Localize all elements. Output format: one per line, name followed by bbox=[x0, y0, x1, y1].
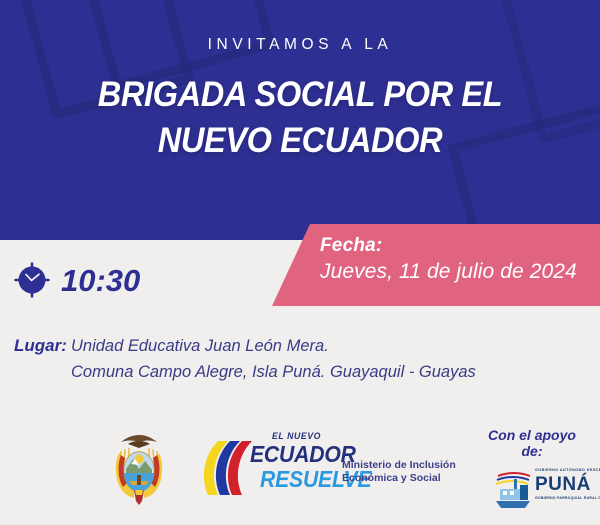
ecuador-coat-of-arms-icon bbox=[108, 429, 170, 509]
place-line-1: Lugar: Unidad Educativa Juan León Mera. bbox=[14, 333, 574, 359]
ecuador-resuelve-logo: EL NUEVO ECUADOR RESUELVE bbox=[196, 431, 346, 503]
ministry-line-2: Económica y Social bbox=[342, 472, 470, 485]
date-banner: Fecha: Jueves, 11 de julio de 2024 bbox=[272, 224, 600, 306]
poster-canvas: INVITAMOS A LA BRIGADA SOCIAL POR EL NUE… bbox=[0, 0, 600, 525]
ecuador-flag-stripes-icon bbox=[196, 437, 254, 499]
place-block: Lugar: Unidad Educativa Juan León Mera. … bbox=[14, 333, 574, 385]
page-title: BRIGADA SOCIAL POR EL NUEVO ECUADOR bbox=[21, 72, 579, 164]
ministry-line-1: Ministerio de Inclusión bbox=[342, 459, 470, 472]
title-line-2: NUEVO ECUADOR bbox=[21, 118, 579, 164]
puna-bottom-text: GOBIERNO PARROQUIAL RURAL DE PUNÁ bbox=[535, 496, 600, 500]
support-label-line-2: de: bbox=[470, 443, 594, 459]
brand-line-2: RESUELVE bbox=[260, 467, 343, 492]
time-row: 10:30 bbox=[14, 262, 140, 298]
puna-logo: GOBIERNO AUTÓNOMO DESCENTRALIZADO PUNÁ G… bbox=[494, 467, 594, 512]
place-line-2: Comuna Campo Alegre, Isla Puná. Guayaqui… bbox=[71, 359, 574, 385]
kicker-text: INVITAMOS A LA bbox=[0, 36, 600, 54]
support-label-line-1: Con el apoyo bbox=[470, 427, 594, 443]
hero-header: INVITAMOS A LA BRIGADA SOCIAL POR EL NUE… bbox=[0, 0, 600, 240]
puna-top-text: GOBIERNO AUTÓNOMO DESCENTRALIZADO bbox=[535, 468, 600, 472]
place-value-1: Unidad Educativa Juan León Mera. bbox=[71, 333, 329, 359]
clock-icon bbox=[14, 262, 50, 298]
time-value: 10:30 bbox=[61, 265, 140, 296]
ministry-name: Ministerio de Inclusión Económica y Soci… bbox=[342, 459, 470, 485]
date-label: Fecha: bbox=[320, 234, 577, 258]
title-line-1: BRIGADA SOCIAL POR EL bbox=[98, 75, 503, 114]
puna-name: PUNÁ bbox=[535, 475, 591, 495]
date-banner-content: Fecha: Jueves, 11 de julio de 2024 bbox=[320, 234, 577, 285]
brand-line-1: ECUADOR bbox=[250, 442, 342, 467]
place-value-2: Comuna Campo Alegre, Isla Puná. Guayaqui… bbox=[71, 359, 476, 385]
place-label: Lugar: bbox=[14, 333, 71, 359]
support-label: Con el apoyo de: bbox=[470, 427, 594, 459]
footer-logos: EL NUEVO ECUADOR RESUELVE Ministerio de … bbox=[0, 415, 600, 525]
date-value: Jueves, 11 de julio de 2024 bbox=[320, 258, 577, 285]
ecuador-resuelve-wordmark: EL NUEVO ECUADOR RESUELVE bbox=[250, 431, 350, 503]
